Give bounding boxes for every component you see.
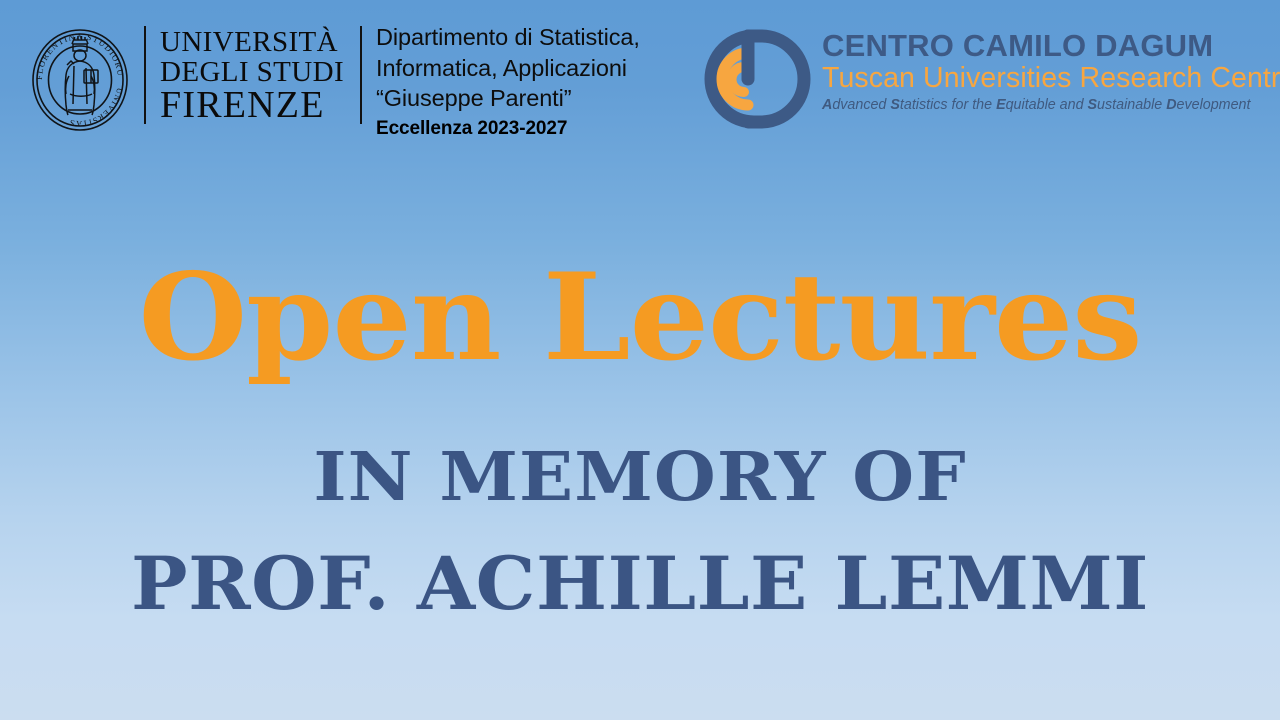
memorial-block: IN MEMORY OF PROF. ACHILLE LEMMI [0, 443, 1280, 621]
ccd-subtitle: Tuscan Universities Research Centre [822, 64, 1280, 93]
department-line3: “Giuseppe Parenti” [376, 83, 640, 114]
ccd-title: CENTRO CAMILO DAGUM [822, 30, 1280, 61]
department-block: Dipartimento di Statistica, Informatica,… [376, 22, 640, 140]
department-line2: Informatica, Applicazioni [376, 53, 640, 84]
slide-header: FLORENTINA STUDIORUM UNIVERSITAS [0, 0, 1280, 150]
unifi-name-line1: UNIVERSITÀ [160, 27, 344, 57]
unifi-logo-lockup: FLORENTINA STUDIORUM UNIVERSITAS [26, 22, 640, 140]
unifi-divider-left [144, 26, 146, 124]
unifi-crest-seal-icon: FLORENTINA STUDIORUM UNIVERSITAS [26, 24, 134, 136]
presentation-slide: FLORENTINA STUDIORUM UNIVERSITAS [0, 0, 1280, 720]
ccd-tagline: Advanced Statistics for the Equitable an… [822, 98, 1280, 112]
ccd-monogram-icon [676, 26, 812, 132]
department-line1: Dipartimento di Statistica, [376, 22, 640, 53]
unifi-name-line3: FIRENZE [160, 86, 344, 126]
excellence-label: Eccellenza 2023-2027 [376, 118, 640, 140]
ccd-logo-lockup: CENTRO CAMILO DAGUM Tuscan Universities … [676, 26, 1280, 132]
unifi-divider-right [360, 26, 362, 124]
ccd-text-block: CENTRO CAMILO DAGUM Tuscan Universities … [822, 30, 1280, 112]
svg-text:UNIVERSITAS: UNIVERSITAS [68, 87, 124, 128]
memorial-line-2: PROF. ACHILLE LEMMI [0, 548, 1280, 621]
slide-main-title: Open Lectures [0, 258, 1280, 378]
unifi-name-block: UNIVERSITÀ DEGLI STUDI FIRENZE [160, 27, 344, 126]
memorial-line-1: IN MEMORY OF [0, 443, 1280, 510]
unifi-name-line2: DEGLI STUDI [160, 57, 344, 87]
